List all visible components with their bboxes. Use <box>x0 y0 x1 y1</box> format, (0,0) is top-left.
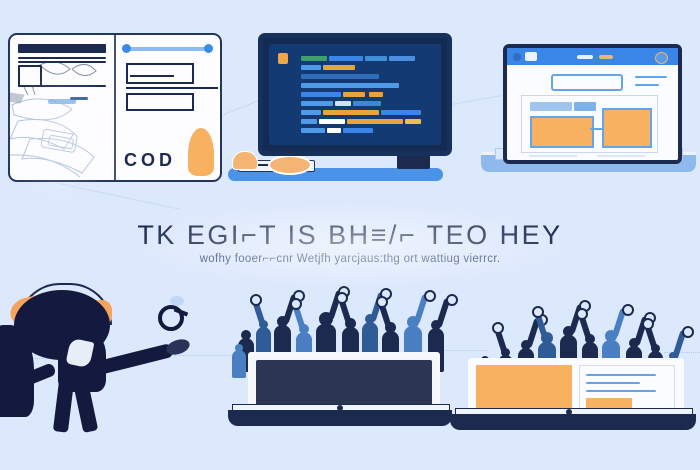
subheadline-text: wofhy fooer⌐⌐cnr Wetjfh yarcjaus:thg ort… <box>0 253 700 265</box>
page-nav-line-1 <box>635 76 667 78</box>
doc-header-bar <box>124 47 212 51</box>
content-title-bar-2 <box>574 102 596 111</box>
code-line <box>343 128 373 133</box>
code-line <box>365 56 387 61</box>
code-line <box>319 119 345 124</box>
code-line <box>301 101 333 106</box>
code-line <box>389 56 415 61</box>
connector-dots-3 <box>61 184 179 210</box>
person-fist-icon <box>532 306 544 318</box>
laptop-top-right[interactable] <box>503 44 682 164</box>
code-line <box>353 101 381 106</box>
page-content-frame <box>521 95 658 153</box>
editor-file-icon <box>278 53 288 64</box>
person-fist-icon <box>576 308 588 320</box>
panel-line-2 <box>586 382 640 384</box>
person-fist-icon <box>424 290 436 302</box>
laptop-bottom-right-trackpad <box>566 409 572 415</box>
laptop-bottom-right-base <box>450 414 696 430</box>
person-fist-icon <box>336 292 348 304</box>
code-line <box>343 92 365 97</box>
doc-dot-left <box>122 44 131 53</box>
laptop-bottom-center-trackpad <box>337 405 343 411</box>
code-line <box>369 92 383 97</box>
content-block-right <box>602 108 652 148</box>
figure-arm <box>95 343 174 375</box>
keyboard-sketch-icon <box>10 35 114 180</box>
person-fist-icon <box>446 294 458 306</box>
sketch-highlight-2 <box>70 97 88 100</box>
sparkle-icon <box>170 296 184 306</box>
doc-text-block-2 <box>126 93 194 111</box>
browser-dot-icon <box>513 53 521 61</box>
code-line <box>323 110 379 115</box>
page-nav-line-2 <box>635 84 659 86</box>
desk-mouse-icon <box>232 151 258 170</box>
doc-text-block-1 <box>126 63 194 84</box>
code-line <box>335 101 351 106</box>
monitor-screen <box>269 44 441 145</box>
panel-line-3 <box>586 390 656 392</box>
code-line <box>301 56 327 61</box>
code-line <box>301 110 321 115</box>
illustration-canvas: COD <box>0 0 700 470</box>
code-line <box>301 92 341 97</box>
browser-chrome <box>507 48 678 65</box>
document-card-right-page: COD <box>116 35 220 180</box>
code-line <box>405 119 421 124</box>
flame-icon <box>188 128 214 176</box>
doc-text-line-1 <box>130 75 174 77</box>
code-line <box>329 56 363 61</box>
browser-tab-label <box>577 55 593 59</box>
code-line <box>381 110 421 115</box>
person-fist-icon <box>250 294 262 306</box>
content-title-bar <box>530 102 572 111</box>
doc-dot-right <box>204 44 213 53</box>
code-line <box>327 128 341 133</box>
person-fist-icon <box>622 304 634 316</box>
code-line <box>301 74 379 79</box>
document-card-left-sketch <box>10 35 114 180</box>
browser-avatar[interactable] <box>655 52 668 64</box>
browser-page <box>507 65 678 160</box>
person-fist-icon <box>642 318 654 330</box>
doc-text-line-2 <box>126 87 218 89</box>
browser-tab-icon <box>525 52 537 61</box>
code-line <box>301 128 325 133</box>
code-line <box>301 119 317 124</box>
code-line <box>301 65 321 70</box>
code-line <box>323 65 355 70</box>
connector-dots-1 <box>219 100 258 117</box>
headline-text: TK EGI⌐T IS BH≡/⌐ TEO HEY <box>0 220 700 251</box>
connector-dots-2 <box>446 95 501 106</box>
content-connector <box>590 128 604 130</box>
page-search-field[interactable] <box>551 74 623 91</box>
person-fist-icon <box>492 322 504 334</box>
page-footer-line-1 <box>529 155 577 157</box>
desk-mousepad-icon <box>268 155 312 175</box>
doc-label-cod: COD <box>124 150 176 171</box>
person-fist-icon <box>290 298 302 310</box>
laptop-bottom-center-base <box>228 410 452 426</box>
desktop-monitor[interactable] <box>258 33 452 156</box>
panel-line-1 <box>586 374 656 376</box>
person-fist-icon <box>376 296 388 308</box>
figure-leg-left <box>53 379 74 432</box>
code-line <box>347 119 403 124</box>
content-block-left <box>530 116 594 148</box>
document-card[interactable]: COD <box>8 33 222 182</box>
page-footer-line-2 <box>597 155 645 157</box>
code-line <box>301 83 399 88</box>
person-fist-icon <box>682 326 694 338</box>
person-body <box>232 350 246 378</box>
browser-tab-label-2 <box>599 55 613 59</box>
